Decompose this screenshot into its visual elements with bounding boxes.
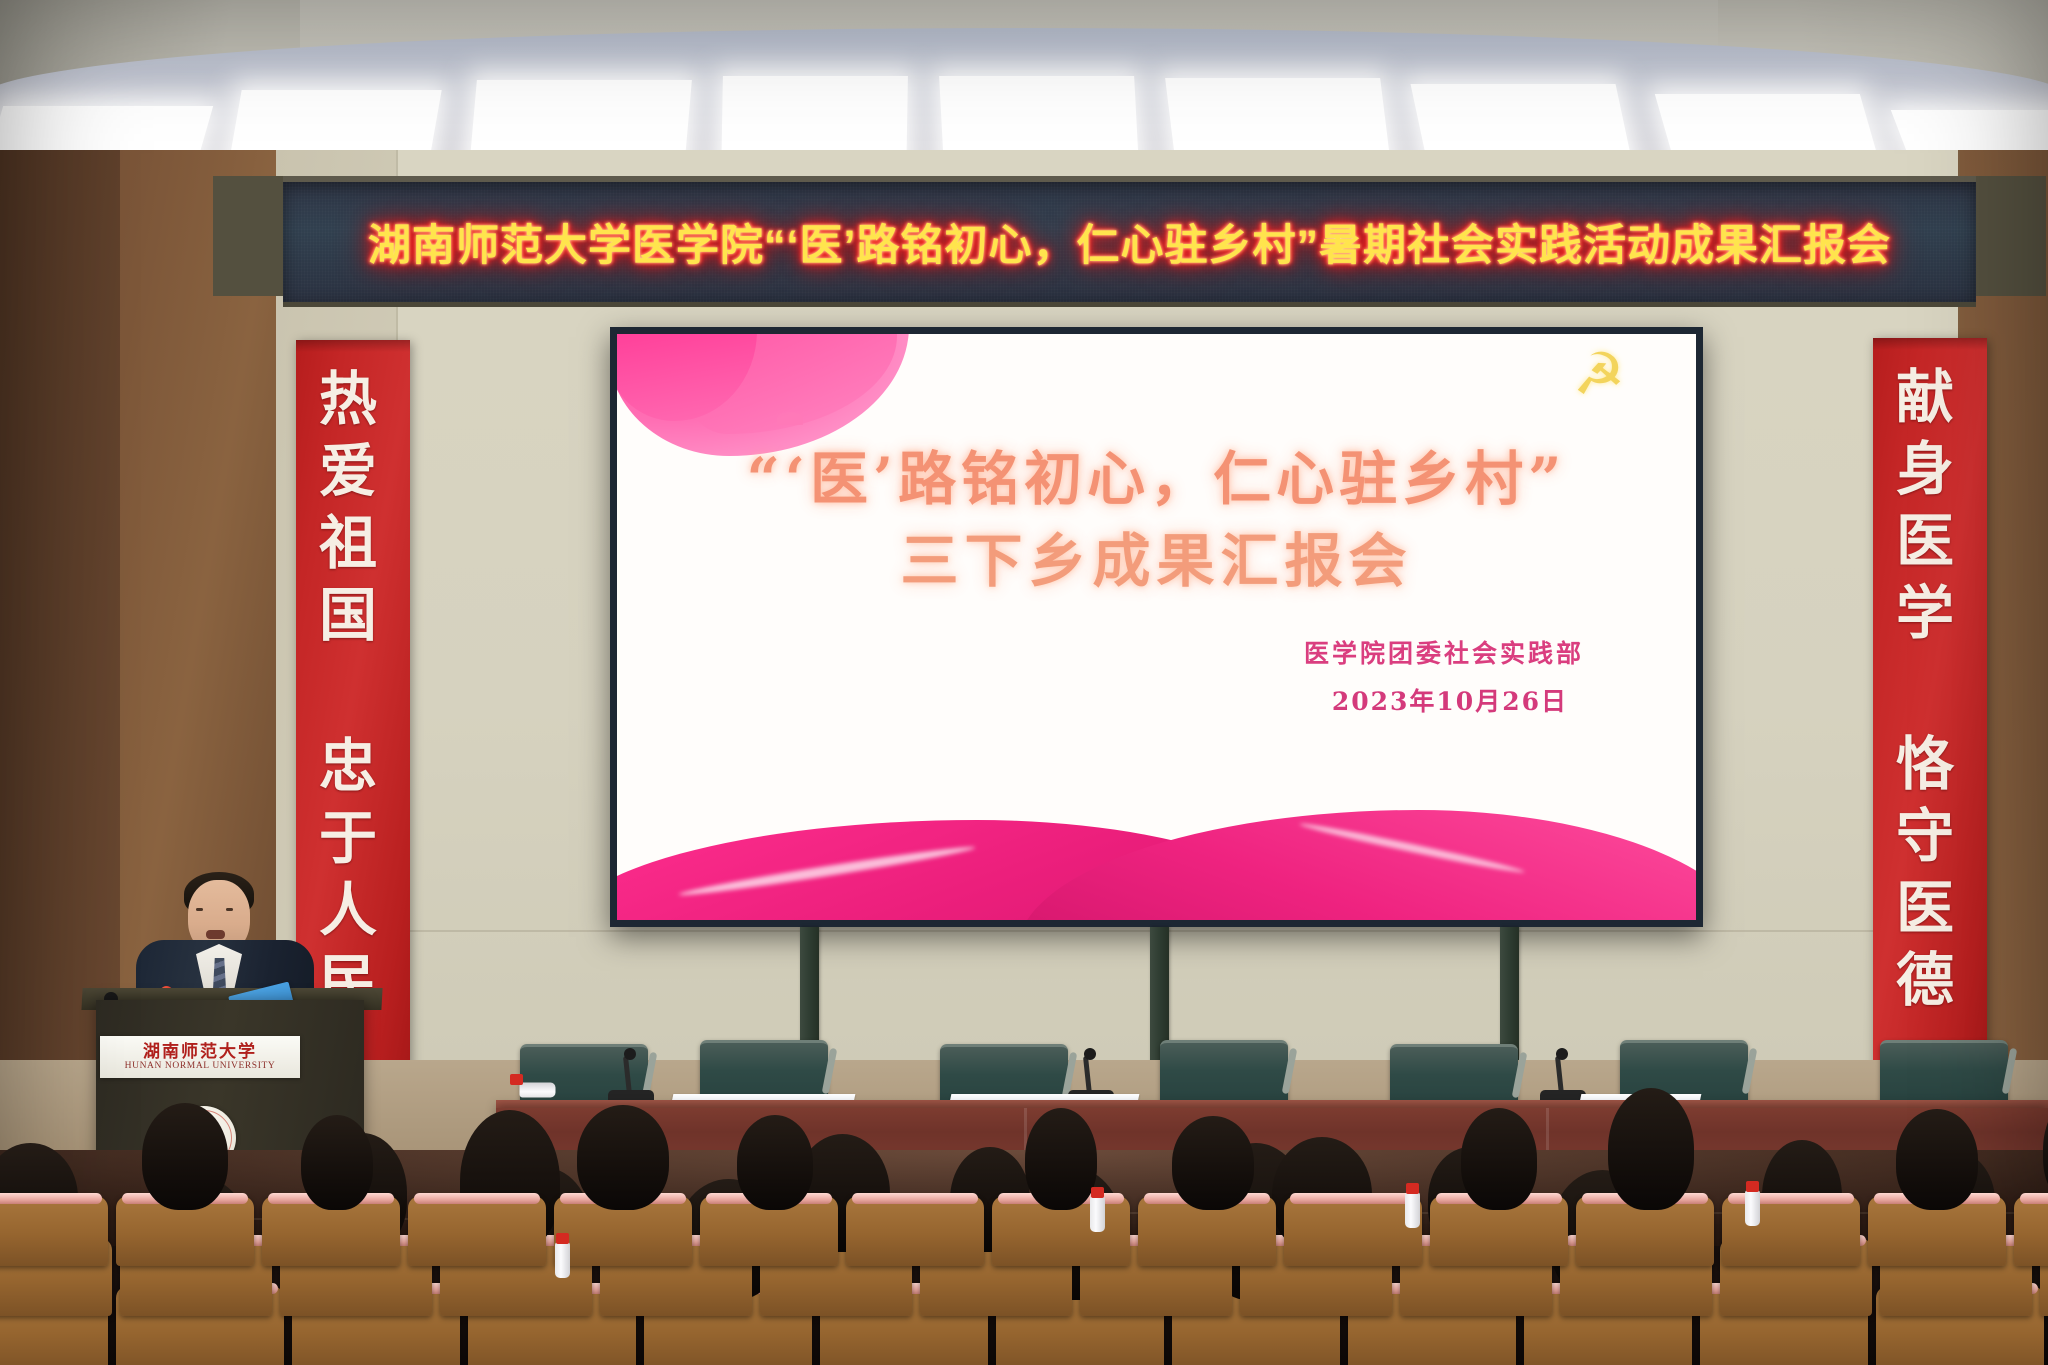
podium-name-cn: 湖南师范大学	[143, 1043, 257, 1061]
table-water-bottle	[520, 1083, 556, 1098]
led-banner-text: 湖南师范大学医学院“‘医’路铭初心，仁心驻乡村”暑期社会实践活动成果汇报会	[283, 211, 1976, 273]
slide-decor-bottom-waves	[617, 810, 1696, 920]
audience-member	[142, 1103, 228, 1210]
slide-date: 2023年10月26日	[1332, 682, 1568, 718]
audience-seat-headrest-trim	[0, 1193, 102, 1204]
speaker-eye-right	[226, 908, 233, 911]
speaker-mouth	[206, 930, 225, 939]
audience-member	[1608, 1088, 1694, 1210]
audience-seat-headrest-trim	[1290, 1193, 1416, 1204]
slide-title-line2: 三下乡成果汇报会	[617, 514, 1696, 598]
audience-member	[577, 1105, 668, 1210]
audience-seat	[2014, 1196, 2048, 1266]
audience-water-bottle	[1090, 1196, 1105, 1232]
slide-wave-highlight-2	[1299, 820, 1526, 876]
audience-seat	[1284, 1196, 1422, 1266]
speaker-eye-left	[196, 908, 203, 911]
slide-title-line1: “‘医’路铭初心，仁心驻乡村”	[617, 432, 1696, 516]
audience-member	[1896, 1109, 1977, 1210]
table-microphone-head-icon	[1556, 1048, 1568, 1060]
table-microphone-head-icon	[624, 1048, 636, 1060]
audience-water-bottle-cap	[556, 1233, 569, 1244]
left-banner-cap	[296, 340, 410, 352]
audience-seat	[846, 1196, 984, 1266]
audience-member	[737, 1115, 814, 1210]
right-banner-cap	[1873, 338, 1987, 350]
table-microphone-head-icon	[1084, 1048, 1096, 1060]
podium-nameplate: 湖南师范大学 HUNAN NORMAL UNIVERSITY	[100, 1036, 300, 1078]
led-banner: 湖南师范大学医学院“‘医’路铭初心，仁心驻乡村”暑期社会实践活动成果汇报会	[283, 176, 1976, 307]
audience-water-bottle	[1745, 1190, 1760, 1226]
led-frame-right-cap	[1976, 176, 2046, 296]
audience-seat-headrest-trim	[2020, 1193, 2048, 1204]
audience-seat-headrest-trim	[414, 1193, 540, 1204]
audience-member	[301, 1115, 373, 1210]
projection-screen-frame: ☭ “‘医’路铭初心，仁心驻乡村” 三下乡成果汇报会 医学院团委社会实践部 20…	[610, 327, 1703, 927]
right-banner-text: 献身医学 恪守医德	[1899, 366, 1961, 1021]
conference-hall-photo: 湖南师范大学医学院“‘医’路铭初心，仁心驻乡村”暑期社会实践活动成果汇报会 热爱…	[0, 0, 2048, 1365]
audience-water-bottle	[1405, 1192, 1420, 1228]
audience-water-bottle-cap	[1091, 1187, 1104, 1198]
hammer-and-sickle-icon: ☭	[1564, 344, 1634, 410]
audience-seat	[1722, 1196, 1860, 1266]
table-water-bottle-cap	[510, 1074, 523, 1085]
audience-water-bottle-cap	[1406, 1183, 1419, 1194]
audience-member	[1461, 1108, 1538, 1210]
slide-organizer: 医学院团委社会实践部	[1304, 634, 1584, 670]
left-banner-text: 热爱祖国 忠于人民	[322, 368, 384, 1023]
audience-member	[1025, 1108, 1097, 1210]
slide-wave-right	[1017, 810, 1696, 920]
wall-molding	[396, 930, 1958, 932]
slide-decor-small-dot	[777, 412, 803, 425]
audience-water-bottle	[555, 1242, 570, 1278]
audience-seat	[0, 1196, 108, 1266]
audience-member	[1172, 1116, 1253, 1210]
slide-wave-highlight-1	[678, 843, 976, 900]
projection-screen: ☭ “‘医’路铭初心，仁心驻乡村” 三下乡成果汇报会 医学院团委社会实践部 20…	[617, 334, 1696, 920]
led-frame-left-cap	[213, 176, 283, 296]
audience-seat-headrest-trim	[852, 1193, 978, 1204]
audience-water-bottle-cap	[1746, 1181, 1759, 1192]
podium-name-en: HUNAN NORMAL UNIVERSITY	[125, 1061, 276, 1071]
audience-seat	[408, 1196, 546, 1266]
